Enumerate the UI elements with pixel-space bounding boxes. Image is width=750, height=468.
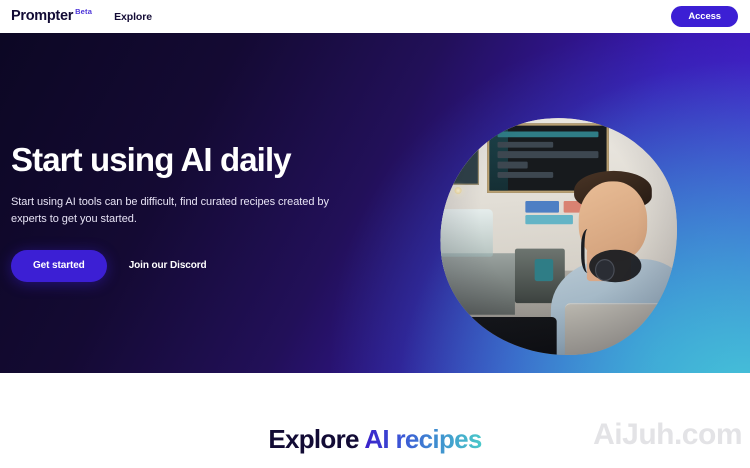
page-root: Prompter Beta Explore Access — [0, 0, 750, 468]
hero-copy: Start using AI daily Start using AI tool… — [11, 143, 411, 282]
hero-section: Start using AI daily Start using AI tool… — [0, 33, 750, 373]
photo-vignette — [428, 106, 690, 368]
brand-beta-badge: Beta — [75, 8, 92, 16]
get-started-button[interactable]: Get started — [11, 250, 107, 282]
access-button[interactable]: Access — [671, 6, 738, 28]
brand-name: Prompter — [11, 9, 73, 24]
apple-logo-icon — [657, 354, 670, 368]
nav-link-explore[interactable]: Explore — [114, 11, 152, 23]
hero-inner: Start using AI daily Start using AI tool… — [0, 33, 750, 373]
hero-title: Start using AI daily — [11, 143, 411, 178]
explore-title-accent: AI recipes — [364, 424, 481, 454]
hero-actions: Get started Join our Discord — [11, 250, 411, 282]
explore-title-plain: Explore — [268, 424, 364, 454]
nav-links: Explore — [114, 11, 152, 23]
brand-logo[interactable]: Prompter Beta — [11, 9, 92, 24]
hero-image-blob — [428, 106, 690, 368]
join-discord-link[interactable]: Join our Discord — [129, 260, 207, 271]
hero-subtitle: Start using AI tools can be difficult, f… — [11, 194, 345, 228]
explore-title: Explore AI recipes — [268, 424, 481, 455]
hero-photo — [428, 106, 690, 368]
navbar: Prompter Beta Explore Access — [0, 0, 750, 33]
photo-table — [548, 358, 592, 367]
watermark: AiJuh.com — [593, 418, 742, 452]
